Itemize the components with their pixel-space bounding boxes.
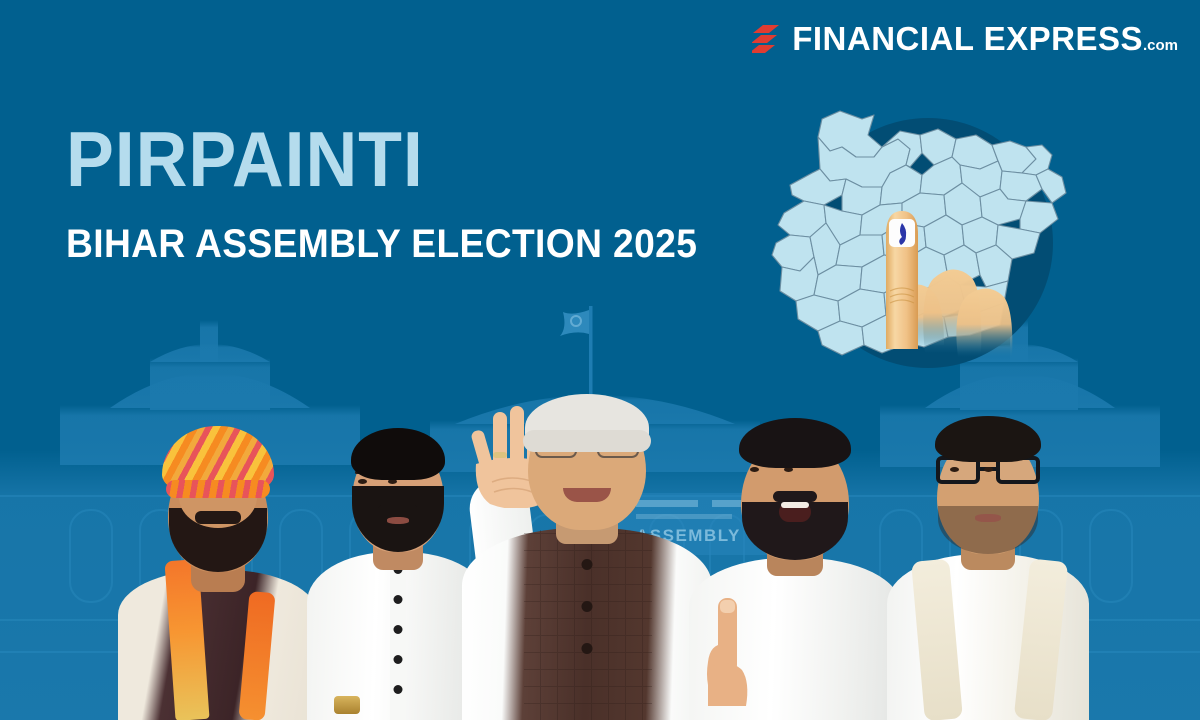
- leader-portrait-beard-kurta: [308, 430, 488, 720]
- leader-portrait-glasses: [888, 428, 1088, 720]
- financial-express-diamond-logo-icon: [752, 24, 780, 54]
- leaders-row: [0, 390, 1200, 720]
- headline-block: PIRPAINTI BIHAR ASSEMBLY ELECTION 2025: [66, 124, 745, 264]
- wristwatch-icon: [334, 696, 360, 714]
- leader-portrait-speaking: [690, 440, 900, 720]
- leader-portrait-turban: [118, 425, 318, 720]
- pointing-finger-icon: [694, 588, 768, 710]
- election-banner: ASSEMBLY FINANCIAL EXPRESS .com PIRPAINT…: [0, 0, 1200, 720]
- brand-logo[interactable]: FINANCIAL EXPRESS .com: [752, 22, 1178, 55]
- brand-name: FINANCIAL EXPRESS: [792, 22, 1143, 55]
- brand-tld: .com: [1143, 38, 1178, 53]
- election-subtitle: BIHAR ASSEMBLY ELECTION 2025: [66, 224, 697, 264]
- bihar-map-with-inked-finger-icon: [770, 95, 1080, 405]
- leader-portrait-waving: [462, 390, 712, 720]
- constituency-title: PIRPAINTI: [66, 124, 690, 196]
